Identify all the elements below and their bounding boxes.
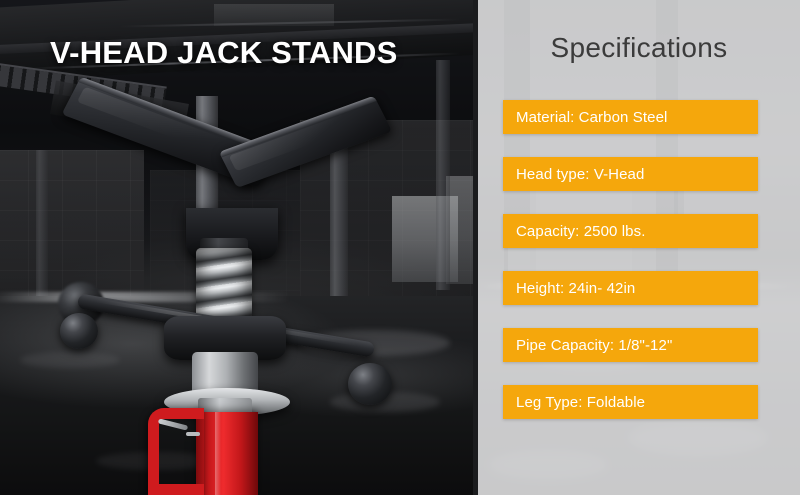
spec-text: Material: Carbon Steel <box>503 109 667 126</box>
spec-text: Head type: V-Head <box>503 166 644 183</box>
handle-ball-knob-right <box>348 363 392 405</box>
spec-text: Height: 24in- 42in <box>503 280 635 297</box>
spec-text: Capacity: 2500 lbs. <box>503 223 645 240</box>
spec-row-head-type: Head type: V-Head <box>503 157 758 191</box>
plate-highlight <box>77 86 243 161</box>
red-tube-body <box>196 412 258 495</box>
product-photo-panel: V-HEAD JACK STANDS <box>0 0 473 495</box>
jack-stand-product <box>0 0 473 495</box>
page-title: V-HEAD JACK STANDS <box>50 36 398 70</box>
spec-row-pipe-capacity: Pipe Capacity: 1/8"-12" <box>503 328 758 362</box>
spec-row-material: Material: Carbon Steel <box>503 100 758 134</box>
specifications-heading: Specifications <box>478 32 800 64</box>
spec-row-leg-type: Leg Type: Foldable <box>503 385 758 419</box>
handle-ball-knob-left <box>60 313 98 349</box>
specifications-panel: Specifications Material: Carbon Steel He… <box>478 0 800 495</box>
foldable-leg-bracket <box>148 408 204 495</box>
spec-text: Leg Type: Foldable <box>503 394 645 411</box>
spec-text: Pipe Capacity: 1/8"-12" <box>503 337 672 354</box>
specifications-list: Material: Carbon Steel Head type: V-Head… <box>503 100 758 419</box>
v-head-saddle-right-plate <box>219 96 392 188</box>
spec-row-height: Height: 24in- 42in <box>503 271 758 305</box>
spec-row-capacity: Capacity: 2500 lbs. <box>503 214 758 248</box>
leg-pin-secondary <box>186 432 200 436</box>
product-infographic-banner: V-HEAD JACK STANDS Specifications Materi… <box>0 0 800 495</box>
